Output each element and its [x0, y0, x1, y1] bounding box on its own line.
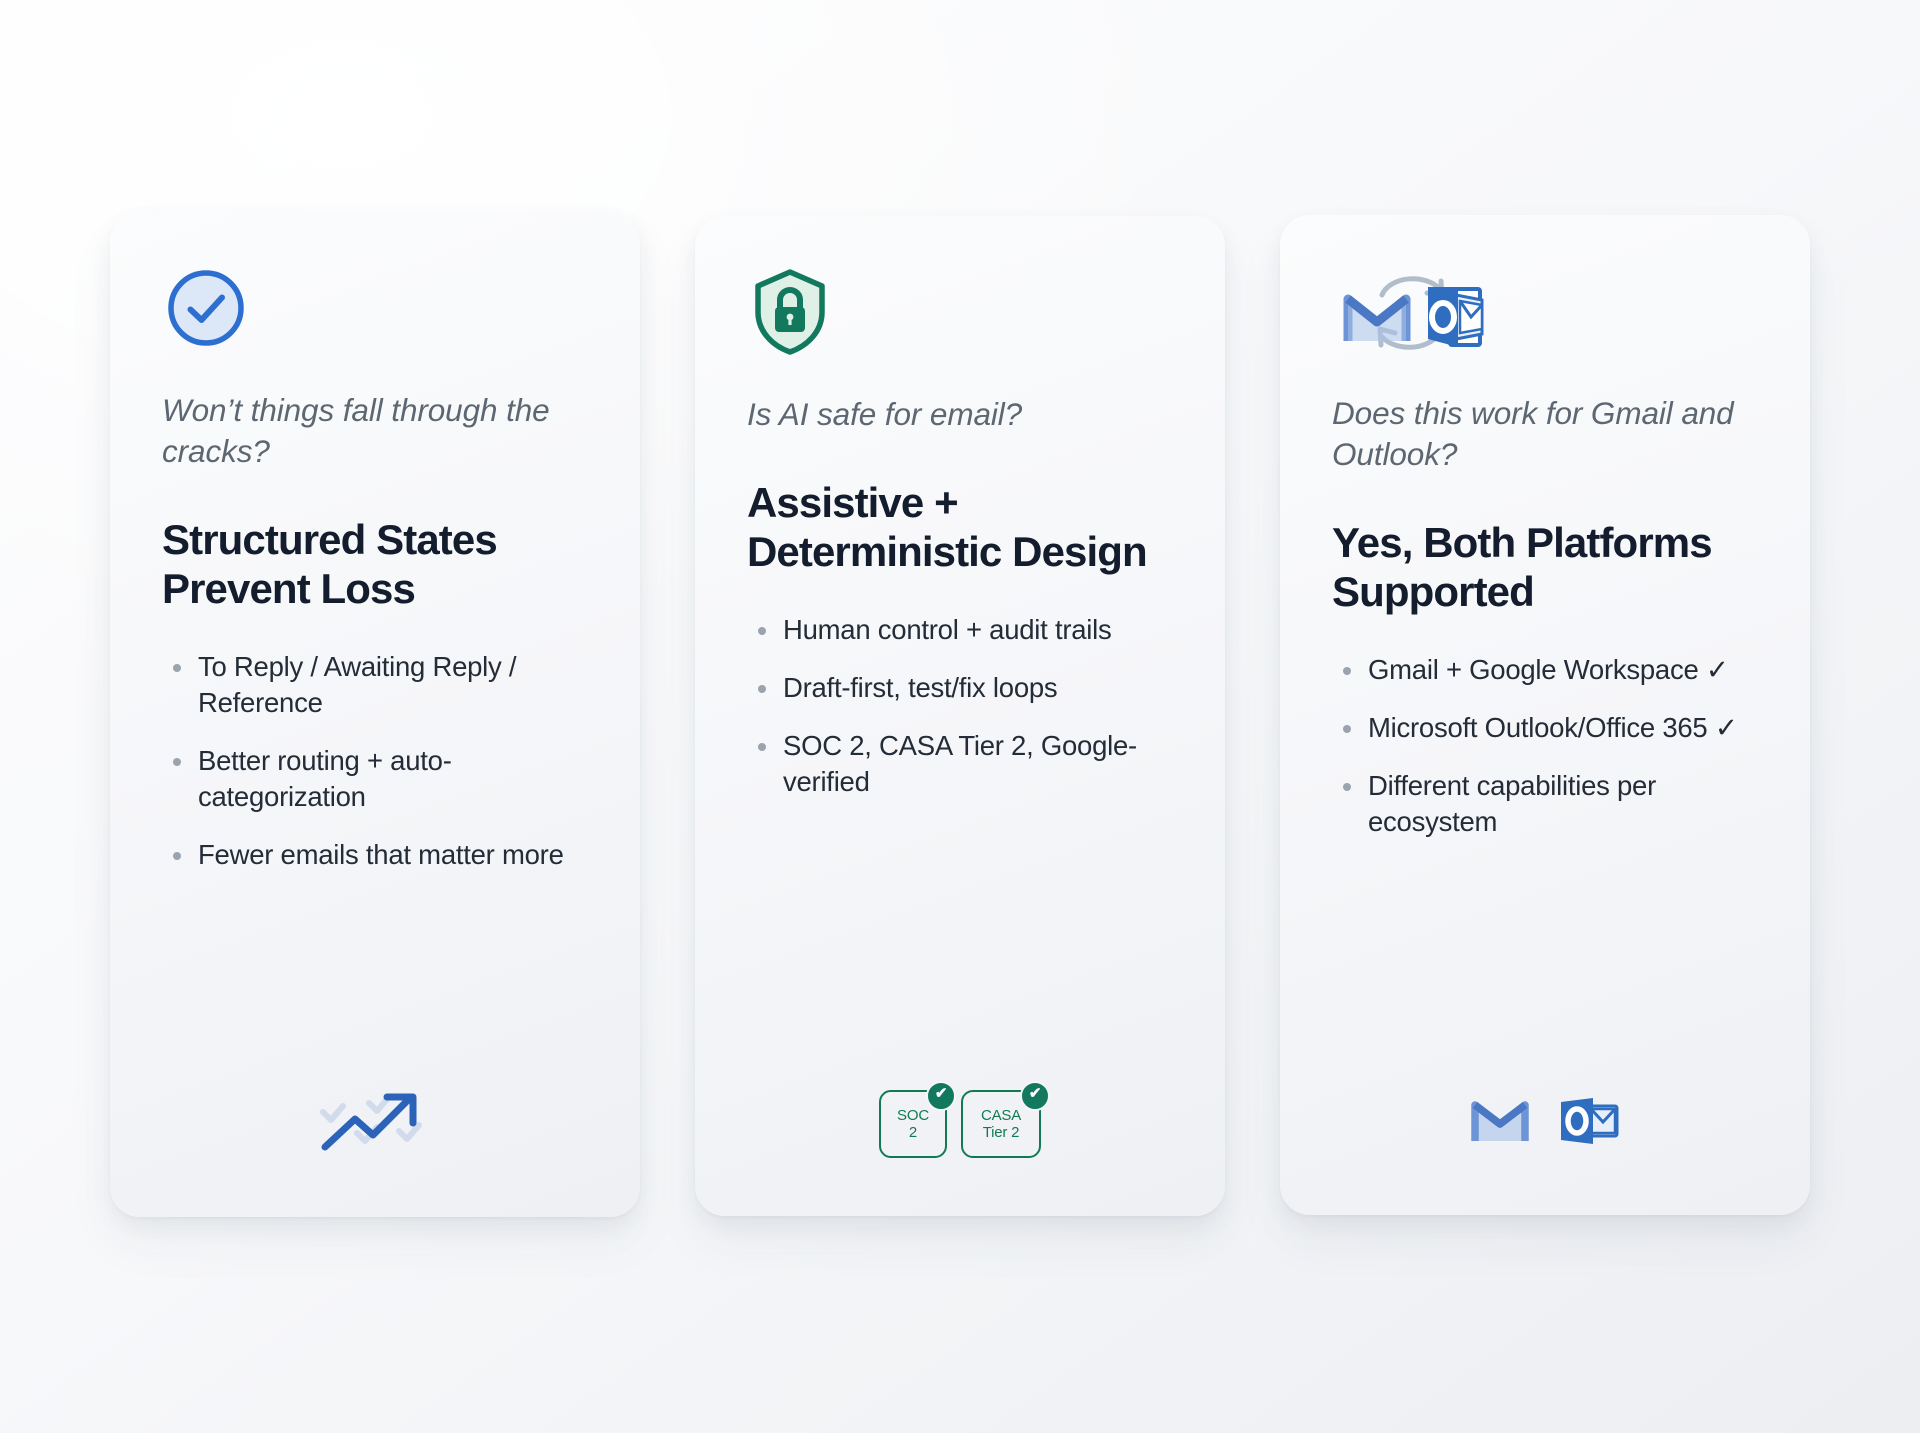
list-item: Gmail + Google Workspace ✓ — [1332, 652, 1758, 688]
card-3-headline: Yes, Both Platforms Supported — [1332, 519, 1758, 616]
card-1-icon-header — [162, 264, 588, 356]
card-1-bullet-list: To Reply / Awaiting Reply / Reference Be… — [162, 649, 588, 1051]
outlook-logo-icon — [1428, 287, 1482, 347]
soc2-badge: ✔ SOC 2 — [879, 1090, 947, 1158]
badge-check-icon: ✔ — [926, 1081, 956, 1111]
list-item: Draft-first, test/fix loops — [747, 670, 1173, 706]
gmail-logo-icon — [1348, 299, 1406, 341]
card-3-bullet-list: Gmail + Google Workspace ✓ Microsoft Out… — [1332, 652, 1758, 1049]
cards-row: Won’t things fall through the cracks? St… — [0, 0, 1920, 1433]
list-item: Different capabilities per ecosystem — [1332, 768, 1758, 840]
card-2-question: Is AI safe for email? — [747, 394, 1173, 435]
soc2-badge-line-1: SOC — [897, 1107, 929, 1124]
card-2-icon-header — [747, 268, 1173, 360]
card-1-question: Won’t things fall through the cracks? — [162, 390, 588, 472]
compliance-badge-row: ✔ SOC 2 ✔ CASA Tier 2 — [879, 1090, 1041, 1158]
badge-check-icon: ✔ — [1020, 1081, 1050, 1111]
card-2-headline: Assistive + Deterministic Design — [747, 479, 1173, 576]
gmail-logo-icon — [1469, 1097, 1531, 1150]
platform-logo-row — [1469, 1096, 1621, 1151]
card-2-bullet-list: Human control + audit trails Draft-first… — [747, 612, 1173, 1050]
casa-badge-line-1: CASA — [981, 1107, 1021, 1124]
card-structured-states[interactable]: Won’t things fall through the cracks? St… — [110, 212, 640, 1217]
card-3-question: Does this work for Gmail and Outlook? — [1332, 393, 1758, 475]
list-item: Microsoft Outlook/Office 365 ✓ — [1332, 710, 1758, 746]
casa-tier2-badge: ✔ CASA Tier 2 — [961, 1090, 1041, 1158]
list-item: Better routing + auto-categorization — [162, 743, 588, 815]
card-3-footer-art — [1332, 1049, 1758, 1171]
card-2-footer-art: ✔ SOC 2 ✔ CASA Tier 2 — [747, 1050, 1173, 1172]
card-1-footer-art — [162, 1051, 588, 1173]
list-item: Fewer emails that matter more — [162, 837, 588, 873]
card-1-headline: Structured States Prevent Loss — [162, 516, 588, 613]
trending-up-arrow-icon — [315, 1085, 435, 1166]
list-item: To Reply / Awaiting Reply / Reference — [162, 649, 588, 721]
card-assistive-deterministic[interactable]: Is AI safe for email? Assistive + Determ… — [695, 216, 1225, 1216]
list-item: Human control + audit trails — [747, 612, 1173, 648]
card-3-icon-header — [1332, 267, 1758, 359]
casa-badge-line-2: Tier 2 — [983, 1124, 1020, 1141]
faq-cards-stage: Won’t things fall through the cracks? St… — [0, 0, 1920, 1433]
check-circle-icon — [162, 264, 250, 357]
soc2-badge-line-2: 2 — [909, 1124, 917, 1141]
outlook-logo-icon — [1555, 1096, 1621, 1151]
list-item: SOC 2, CASA Tier 2, Google-verified — [747, 728, 1173, 800]
card-both-platforms[interactable]: Does this work for Gmail and Outlook? Ye… — [1280, 215, 1810, 1215]
shield-lock-icon — [747, 266, 833, 363]
gmail-outlook-sync-icon — [1332, 265, 1502, 362]
